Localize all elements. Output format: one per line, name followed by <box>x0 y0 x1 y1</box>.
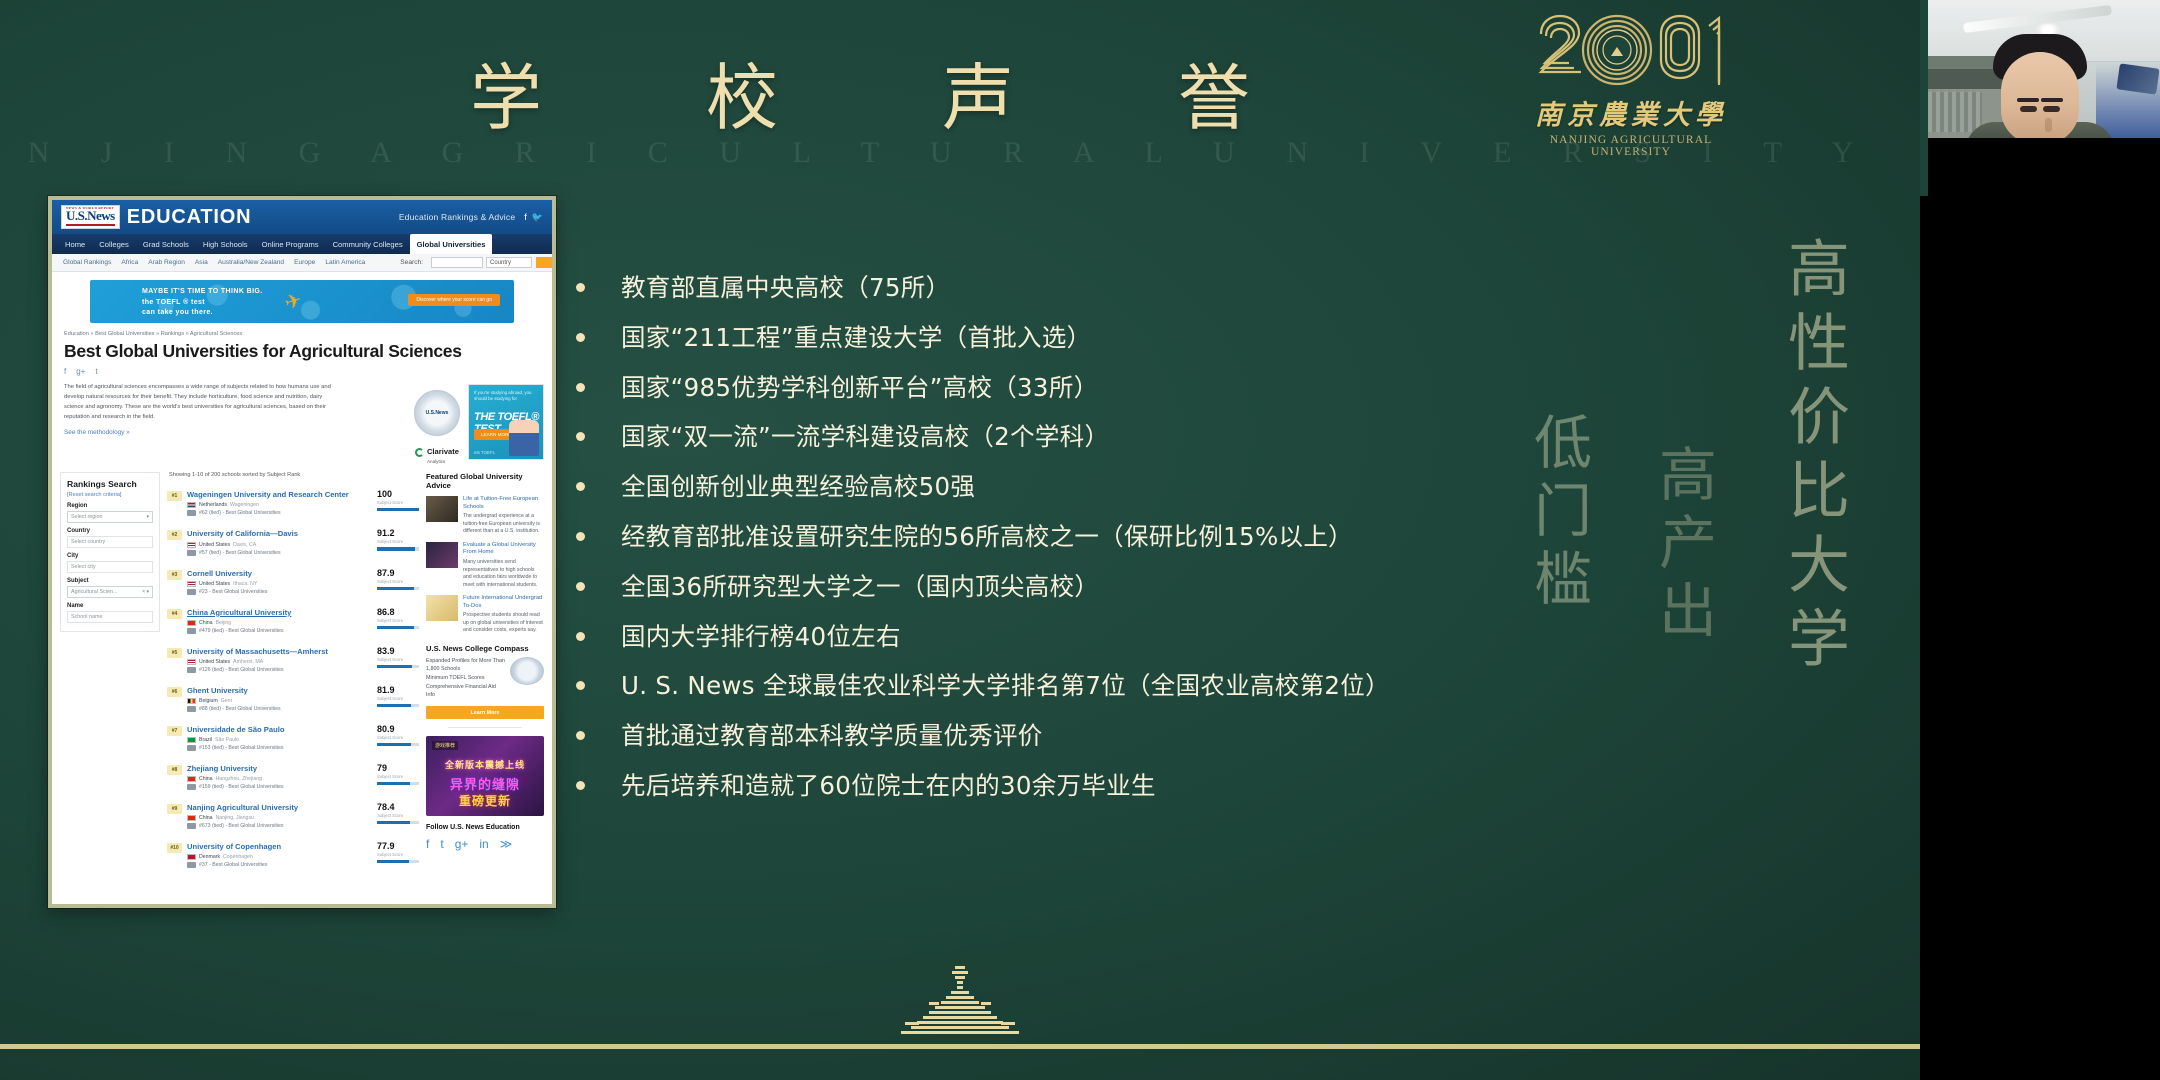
badge-label: U.S.News <box>426 410 449 416</box>
filter-name-value: School name <box>71 614 102 620</box>
bullet-dot-icon <box>576 432 585 441</box>
school-country: Belgium <box>199 698 218 704</box>
rank-badge: #5 <box>167 648 182 658</box>
rank-badge: #1 <box>167 491 182 501</box>
list-item: 国家“985优势学科创新平台”高校（33所） <box>576 372 1586 422</box>
list-item[interactable]: Life at Tuition-Free European Schools Th… <box>426 496 544 536</box>
list-item: 全国创新创业典型经验高校50强 <box>576 471 1586 521</box>
bullet-dot-icon <box>576 383 585 392</box>
subject-score-label: Subject Score <box>377 774 419 779</box>
college-compass-title: U.S. News College Compass <box>426 644 544 653</box>
ad-banner-text: MAYBE IT'S TIME TO THINK BIG. the TOEFL … <box>142 287 263 319</box>
nav-item-grad-schools[interactable]: Grad Schools <box>136 234 196 254</box>
slide-bullet-list: 教育部直属中央高校（75所） 国家“211工程”重点建设大学（首批入选） 国家“… <box>576 272 1586 820</box>
globe-icon <box>187 589 196 595</box>
usnews-tagline: Education Rankings & Advice <box>399 212 515 222</box>
score-bar <box>377 743 419 746</box>
list-item: 全国36所研究型大学之一（国内顶尖高校） <box>576 571 1586 621</box>
usnews-best-global-badge: U.S.News <box>414 390 460 436</box>
school-name[interactable]: Nanjing Agricultural University <box>187 803 372 812</box>
subject-score-label: Subject Score <box>377 735 419 740</box>
bullet-text: 国内大学排行榜40位左右 <box>621 621 901 653</box>
webcam-panel <box>1920 0 2160 1080</box>
background-right-structure <box>2096 62 2160 138</box>
score-bar <box>377 704 419 707</box>
school-country: China <box>199 776 213 782</box>
globe-icon <box>187 745 196 751</box>
table-row[interactable]: #7 Universidade de São Paulo BrazilSão P… <box>167 718 419 757</box>
school-city: Davis, CA <box>233 542 256 548</box>
subject-score-label: Subject Score <box>377 500 419 505</box>
filter-region-value: Select region <box>71 514 102 520</box>
subnav-africa[interactable]: Africa <box>116 259 143 266</box>
bullet-dot-icon <box>576 681 585 690</box>
article-thumbnail <box>426 595 458 621</box>
filter-label-country: Country <box>67 528 153 534</box>
usnews-logo-rule <box>66 224 115 226</box>
chevron-down-icon: × ▾ <box>142 589 149 595</box>
nav-item-high-schools[interactable]: High Schools <box>196 234 255 254</box>
rank-badge: #9 <box>167 804 182 814</box>
person-eye-right <box>2043 106 2060 112</box>
person-eyebrow-right <box>2041 98 2063 102</box>
subject-score: 100 <box>377 490 419 499</box>
follow-social-row: f t g+ in ≫ <box>426 837 544 851</box>
ad-banner-cta[interactable]: Discover where your score can go <box>408 294 500 306</box>
subject-score: 91.2 <box>377 529 419 538</box>
article-thumbnail <box>426 496 458 522</box>
toefl-leaderboard-ad[interactable]: MAYBE IT'S TIME TO THINK BIG. the TOEFL … <box>90 280 514 323</box>
subnav-europe[interactable]: Europe <box>289 259 320 266</box>
score-bar <box>377 821 419 824</box>
compass-bullet: Comprehensive Financial Aid Info <box>426 683 506 700</box>
google-plus-icon[interactable]: g+ <box>455 837 469 851</box>
flag-icon <box>187 581 196 587</box>
subject-score-label: Subject Score <box>377 618 419 623</box>
flag-icon <box>187 542 196 548</box>
subject-score-label: Subject Score <box>377 696 419 701</box>
globe-icon <box>187 784 196 790</box>
flag-icon <box>187 659 196 665</box>
rank-badge: #3 <box>167 570 182 580</box>
flag-icon <box>187 620 196 626</box>
global-rank[interactable]: #57 (tied) - Best Global Universities <box>199 550 281 556</box>
subnav-global-rankings[interactable]: Global Rankings <box>58 259 116 266</box>
reset-search-criteria-link[interactable]: [Reset search criteria] <box>67 492 153 498</box>
nav-item-home[interactable]: Home <box>58 234 92 254</box>
subnav-latin-america[interactable]: Latin America <box>320 259 370 266</box>
webcam-video-feed[interactable] <box>1920 0 2160 138</box>
filter-label-region: Region <box>67 503 153 509</box>
subject-score-label: Subject Score <box>377 813 419 818</box>
school-name[interactable]: University of Copenhagen <box>187 842 372 851</box>
divider <box>448 727 522 728</box>
compass-seal-icon <box>510 657 544 685</box>
filter-name-input[interactable]: School name <box>67 611 153 623</box>
filter-city-value: Select city <box>71 564 96 570</box>
bullet-dot-icon <box>576 532 585 541</box>
subject-score: 78.4 <box>377 803 419 812</box>
clarivate-sub: Analytics <box>427 459 459 464</box>
usnews-sub-nav: Global Rankings Africa Arab Region Asia … <box>52 254 552 272</box>
bullet-dot-icon <box>576 333 585 342</box>
rankings-search-panel: Rankings Search [Reset search criteria] … <box>60 472 160 632</box>
article-desc: The undergrad experience at a tuition-fr… <box>463 513 544 536</box>
school-name[interactable]: University of Massachusetts—Amherst <box>187 647 372 656</box>
article-title[interactable]: Future International Undergrad To-Dos <box>463 595 544 610</box>
flag-icon <box>187 776 196 782</box>
school-name[interactable]: Wageningen University and Research Cente… <box>187 490 372 499</box>
person-face <box>2001 52 2079 138</box>
school-name[interactable]: China Agricultural University <box>187 608 372 617</box>
toefl-ad-line1: If you're studying abroad, you should be… <box>474 390 538 402</box>
google-plus-icon[interactable]: g+ <box>76 367 85 376</box>
usnews-main-nav: Home Colleges Grad Schools High Schools … <box>52 234 552 254</box>
globe-icon <box>187 628 196 634</box>
vertical-decor-right: 高性价比大学 <box>1779 236 1848 680</box>
bullet-text: 首批通过教育部本科教学质量优秀评价 <box>621 720 1043 752</box>
school-city: Copenhagen <box>223 854 253 860</box>
bullet-dot-icon <box>576 632 585 641</box>
table-row[interactable]: #1 Wageningen University and Research Ce… <box>167 483 419 522</box>
list-item: 教育部直属中央高校（75所） <box>576 272 1586 322</box>
subject-score: 80.9 <box>377 725 419 734</box>
subnav-asia[interactable]: Asia <box>190 259 213 266</box>
game-advertisement[interactable]: 游戏推荐 全新版本震撼上线 异界的缝隙 重磅更新 <box>426 736 544 816</box>
bullet-text: 全国创新创业典型经验高校50强 <box>621 471 975 503</box>
school-country: United States <box>199 542 230 548</box>
filter-country-input[interactable]: Select country <box>67 536 153 548</box>
page-description: The field of agricultural sciences encom… <box>52 376 352 423</box>
logo-english-name: NANJING AGRICULTURAL UNIVERSITY <box>1520 134 1742 158</box>
filter-label-name: Name <box>67 603 153 609</box>
globe-icon <box>187 510 196 516</box>
article-title[interactable]: Evaluate a Global University From Home <box>463 542 544 557</box>
webcam-empty-area <box>1920 138 2160 1080</box>
rank-badge: #6 <box>167 687 182 697</box>
facebook-icon[interactable]: f <box>524 212 527 223</box>
bullet-dot-icon <box>576 482 585 491</box>
ad-banner-line3: can take you there. <box>142 308 263 319</box>
global-rank[interactable]: #153 (tied) - Best Global Universities <box>199 745 283 751</box>
game-ad-line3: 重磅更新 <box>434 792 536 809</box>
subject-score: 79 <box>377 764 419 773</box>
breadcrumb[interactable]: Education » Best Global Universities » R… <box>52 329 552 337</box>
list-item: 国内大学排行榜40位左右 <box>576 621 1586 671</box>
list-item: 首批通过教育部本科教学质量优秀评价 <box>576 720 1586 770</box>
nav-item-global-universities[interactable]: Global Universities <box>410 234 493 254</box>
flag-icon <box>187 698 196 704</box>
table-row[interactable]: #2 University of California—Davis United… <box>167 522 419 561</box>
article-title[interactable]: Life at Tuition-Free European Schools <box>463 496 544 511</box>
vertical-decor-middle: 高产出 <box>1650 444 1715 648</box>
global-rank[interactable]: #159 (tied) - Best Global Universities <box>199 784 283 790</box>
school-city: Gent <box>221 698 232 704</box>
clarivate-logo: Clarivate Analytics <box>406 441 468 464</box>
list-item: 先后培养和造就了60位院士在内的30余万毕业生 <box>576 770 1586 820</box>
nav-item-community-colleges[interactable]: Community Colleges <box>326 234 410 254</box>
school-name[interactable]: Ghent University <box>187 686 372 695</box>
toefl-ad-photo <box>509 420 539 456</box>
list-item[interactable]: Evaluate a Global University From Home M… <box>426 542 544 589</box>
bullet-dot-icon <box>576 781 585 790</box>
global-rank[interactable]: #37 - Best Global Universities <box>199 862 267 868</box>
university-logo: 南京農業大學 NANJING AGRICULTURAL UNIVERSITY <box>1520 8 1742 158</box>
globe-icon <box>187 667 196 673</box>
bullet-text: 先后培养和造就了60位院士在内的30余万毕业生 <box>621 770 1156 802</box>
list-item: U. S. News 全球最佳农业科学大学排名第7位（全国农业高校第2位） <box>576 670 1586 720</box>
school-country: Brazil <box>199 737 212 743</box>
score-bar <box>377 508 419 511</box>
subject-score: 83.9 <box>377 647 419 656</box>
school-name[interactable]: Universidade de São Paulo <box>187 725 372 734</box>
school-city: Ithaca, NY <box>233 581 257 587</box>
global-rank[interactable]: #88 (tied) - Best Global Universities <box>199 706 281 712</box>
bullet-text: 国家“双一流”一流学科建设高校（2个学科） <box>621 421 1109 453</box>
subject-score: 81.9 <box>377 686 419 695</box>
school-country: Netherlands <box>199 502 227 508</box>
global-rank[interactable]: #23 - Best Global Universities <box>199 589 267 595</box>
methodology-link[interactable]: See the methodology » <box>52 423 406 436</box>
person-eye-left <box>2020 106 2037 112</box>
twitter-icon[interactable]: 🐦 <box>532 212 543 223</box>
share-bar: f g+ t <box>52 361 552 376</box>
search-go-button[interactable] <box>536 257 552 268</box>
compass-bullet: Minimum TOEFL Scores <box>426 674 506 683</box>
person-head <box>1993 34 2087 138</box>
toefl-ad-footer: ets TOEFL <box>474 450 495 455</box>
subnav-arab-region[interactable]: Arab Region <box>143 259 190 266</box>
slide-title: 学 校 声 誉 <box>0 62 1720 134</box>
filter-subject-select[interactable]: Agricultural Scien... × ▾ <box>67 586 153 598</box>
bullet-text: 国家“211工程”重点建设大学（首批入选） <box>621 322 1091 354</box>
right-rail: Featured Global University Advice Life a… <box>426 472 544 874</box>
filter-label-city: City <box>67 553 153 559</box>
featured-advice-title: Featured Global University Advice <box>426 472 544 490</box>
facebook-icon[interactable]: f <box>426 837 429 851</box>
search-input[interactable] <box>431 257 483 268</box>
global-rank[interactable]: #126 (tied) - Best Global Universities <box>199 667 283 673</box>
rank-badge: #7 <box>167 726 182 736</box>
filter-country-value: Select country <box>71 539 105 545</box>
usnews-screenshot-image: NEWS & WORLD REPORT U.S.News EDUCATION E… <box>48 196 556 908</box>
nav-item-online-programs[interactable]: Online Programs <box>255 234 326 254</box>
country-select[interactable]: Country <box>486 257 532 268</box>
subject-score-label: Subject Score <box>377 657 419 662</box>
ad-banner-line2: the TOEFL ® test <box>142 298 263 309</box>
score-bar <box>377 782 419 785</box>
list-item: 国家“211工程”重点建设大学（首批入选） <box>576 322 1586 372</box>
game-ad-badge: 游戏推荐 <box>432 741 458 750</box>
school-name[interactable]: University of California—Davis <box>187 529 372 538</box>
nav-item-colleges[interactable]: Colleges <box>92 234 136 254</box>
rss-icon[interactable]: ≫ <box>500 837 513 851</box>
person-nose <box>2045 118 2052 132</box>
twitter-icon[interactable]: t <box>95 367 97 376</box>
list-item: 国家“双一流”一流学科建设高校（2个学科） <box>576 421 1586 471</box>
rank-badge: #10 <box>167 843 182 853</box>
subject-score-label: Subject Score <box>377 579 419 584</box>
school-country: United States <box>199 659 230 665</box>
bullet-text: 国家“985优势学科创新平台”高校（33所） <box>621 372 1098 404</box>
twitter-icon[interactable]: t <box>440 837 443 851</box>
subject-score-label: Subject Score <box>377 852 419 857</box>
usnews-header-social: f 🐦 <box>524 212 543 223</box>
list-item: 经教育部批准设置研究生院的56所高校之一（保研比例15%以上） <box>576 521 1586 571</box>
article-thumbnail <box>426 542 458 568</box>
globe-icon <box>187 550 196 556</box>
rank-badge: #8 <box>167 765 182 775</box>
school-country: United States <box>199 581 230 587</box>
facebook-icon[interactable]: f <box>64 367 66 376</box>
table-row[interactable]: #4 China Agricultural University ChinaBe… <box>167 601 419 640</box>
article-desc: Many universities send representatives t… <box>463 559 544 589</box>
table-row[interactable]: #9 Nanjing Agricultural University China… <box>167 796 419 835</box>
page-title: Best Global Universities for Agricultura… <box>52 337 552 361</box>
school-country: Denmark <box>199 854 220 860</box>
showing-count: Showing 1-10 of 200 schools sorted by Su… <box>167 472 419 483</box>
table-row[interactable]: #5 University of Massachusetts—Amherst U… <box>167 640 419 679</box>
ad-banner-line1: MAYBE IT'S TIME TO THINK BIG. <box>142 287 263 298</box>
score-bar <box>377 587 419 590</box>
clarivate-mark-icon <box>415 448 424 457</box>
bullet-dot-icon <box>576 731 585 740</box>
game-ad-line1: 全新版本震撼上线 <box>434 758 536 771</box>
subnav-australia-nz[interactable]: Australia/New Zealand <box>213 259 289 266</box>
flag-icon <box>187 815 196 821</box>
score-bar <box>377 626 419 629</box>
school-city: São Paulo <box>215 737 239 743</box>
slide-edge-strip <box>1920 0 1928 196</box>
bullet-text: 教育部直属中央高校（75所） <box>621 272 950 304</box>
usnews-header: NEWS & WORLD REPORT U.S.News EDUCATION E… <box>52 200 552 234</box>
vertical-decor-left: 低门槛 <box>1525 412 1590 616</box>
flag-icon <box>187 854 196 860</box>
article-desc: Prospective students should read up on g… <box>463 612 544 635</box>
logo-year-2021 <box>1520 8 1742 100</box>
toefl-square-ad[interactable]: If you're studying abroad, you should be… <box>468 384 544 460</box>
school-city: Hangzhou, Zhejiang <box>216 776 262 782</box>
game-ad-line2: 异界的缝隙 <box>434 774 536 793</box>
presentation-slide: N A N J I N G A G R I C U L T U R A L U … <box>0 0 1920 1080</box>
table-row[interactable]: #8 Zhejiang University ChinaHangzhou, Zh… <box>167 757 419 796</box>
table-row[interactable]: #10 University of Copenhagen DenmarkCope… <box>167 835 419 874</box>
subject-score: 77.9 <box>377 842 419 851</box>
global-rank[interactable]: #62 (tied) - Best Global Universities <box>199 510 281 516</box>
learn-more-button[interactable]: Learn More <box>426 706 544 719</box>
list-item[interactable]: Future International Undergrad To-Dos Pr… <box>426 595 544 635</box>
bullet-text: 经教育部批准设置研究生院的56所高校之一（保研比例15%以上） <box>621 521 1353 553</box>
table-row[interactable]: #3 Cornell University United StatesIthac… <box>167 562 419 601</box>
subject-score-label: Subject Score <box>377 539 419 544</box>
rankings-list: Showing 1-10 of 200 schools sorted by Su… <box>167 472 419 874</box>
bullet-text: 全国36所研究型大学之一（国内顶尖高校） <box>621 571 1099 603</box>
filter-region-select[interactable]: Select region ▾ <box>67 511 153 523</box>
pagoda-ornament-icon <box>889 962 1031 1047</box>
usnews-logo-main: U.S.News <box>66 208 115 223</box>
clarivate-name: Clarivate <box>427 447 459 456</box>
table-row[interactable]: #6 Ghent University BelgiumGent #88 (tie… <box>167 679 419 718</box>
person-eyebrow-left <box>2017 98 2039 102</box>
score-bar <box>377 860 419 863</box>
school-city: Beijing <box>216 620 232 626</box>
globe-icon <box>187 823 196 829</box>
school-city: Wageningen <box>230 502 259 508</box>
school-city: Amherst, MA <box>233 659 263 665</box>
rank-badge: #2 <box>167 530 182 540</box>
flag-icon <box>187 502 196 508</box>
bullet-dot-icon <box>576 582 585 591</box>
subject-score: 87.9 <box>377 569 419 578</box>
bullet-text: U. S. News 全球最佳农业科学大学排名第7位（全国农业高校第2位） <box>621 670 1390 702</box>
filter-label-subject: Subject <box>67 578 153 584</box>
usnews-section-label: EDUCATION <box>127 206 252 229</box>
rank-badge: #4 <box>167 609 182 619</box>
score-bar <box>377 665 419 668</box>
bullet-dot-icon <box>576 283 585 292</box>
chevron-down-icon: ▾ <box>146 514 149 520</box>
school-name[interactable]: Cornell University <box>187 569 372 578</box>
rankings-search-title: Rankings Search <box>67 479 153 489</box>
linkedin-icon[interactable]: in <box>479 837 488 851</box>
filter-city-input[interactable]: Select city <box>67 561 153 573</box>
search-label: Search: <box>395 259 428 266</box>
school-country: China <box>199 815 213 821</box>
subject-score: 86.8 <box>377 608 419 617</box>
school-city: Nanjing, Jiangsu <box>216 815 254 821</box>
globe-icon <box>187 862 196 868</box>
logo-chinese-name: 南京農業大學 <box>1520 102 1742 129</box>
flag-icon <box>187 737 196 743</box>
school-country: China <box>199 620 213 626</box>
follow-title: Follow U.S. News Education <box>426 824 544 831</box>
filter-subject-value: Agricultural Scien... <box>71 589 117 595</box>
bottom-gold-line <box>0 1044 1920 1049</box>
globe-icon <box>187 706 196 712</box>
compass-bullet: Expanded Profiles for More Than 1,800 Sc… <box>426 657 506 674</box>
score-bar <box>377 547 419 550</box>
global-rank[interactable]: #479 (tied) - Best Global Universities <box>199 628 283 634</box>
school-name[interactable]: Zhejiang University <box>187 764 372 773</box>
global-rank[interactable]: #673 (tied) - Best Global Universities <box>199 823 283 829</box>
usnews-logo: NEWS & WORLD REPORT U.S.News <box>61 205 120 229</box>
